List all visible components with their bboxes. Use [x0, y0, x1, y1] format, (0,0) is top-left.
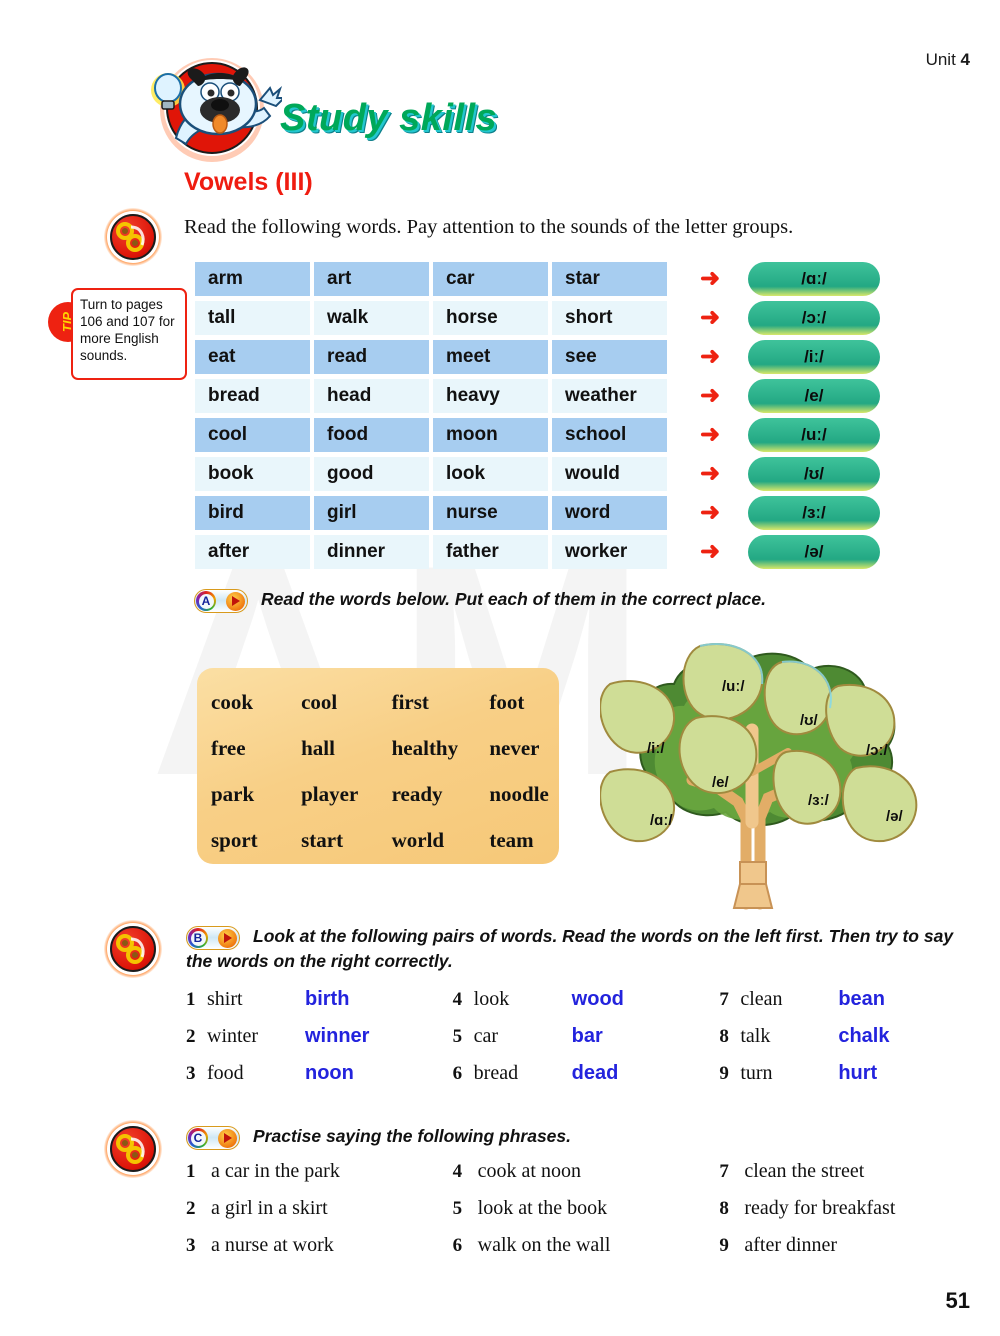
- word-bank-cell[interactable]: start: [291, 817, 382, 863]
- vowel-word-cell: horse: [433, 301, 548, 335]
- pair-number: 5: [453, 1026, 474, 1048]
- vowel-word-cell: art: [314, 262, 429, 296]
- vowel-word-cell: worker: [552, 535, 667, 569]
- vowel-table-row: birdgirlnurseword: [195, 496, 667, 530]
- vowel-table-row: armartcarstar: [195, 262, 667, 296]
- phrase-text: a nurse at work: [211, 1234, 334, 1257]
- play-arrow-icon[interactable]: [218, 929, 237, 948]
- textbook-page: Unit 4: [0, 0, 1000, 1336]
- pair-left-word: shirt: [207, 988, 305, 1011]
- vowel-word-cell: weather: [552, 379, 667, 413]
- phrase-number: 1: [186, 1161, 211, 1183]
- phrase-number: 9: [719, 1235, 744, 1257]
- word-pair-row: 5carbar: [453, 1025, 720, 1062]
- right-arrow-icon: ➜: [700, 301, 720, 340]
- unit-label: Unit 4: [926, 50, 970, 70]
- word-bank-cell[interactable]: hall: [291, 725, 382, 771]
- pair-number: 1: [186, 989, 207, 1011]
- word-bank-cell[interactable]: park: [197, 771, 291, 817]
- vowel-word-cell: father: [433, 535, 548, 569]
- pair-number: 2: [186, 1026, 207, 1048]
- vowel-word-cell: moon: [433, 418, 548, 452]
- pair-left-word: look: [474, 988, 572, 1011]
- vowel-word-cell: girl: [314, 496, 429, 530]
- right-arrow-icon: ➜: [700, 535, 720, 574]
- pair-right-word: bean: [838, 988, 885, 1011]
- vowel-sound-pill: /ɔː/: [748, 301, 880, 335]
- phrase-number: 8: [719, 1198, 744, 1220]
- vowel-table-row: breadheadheavyweather: [195, 379, 667, 413]
- word-bank-row: sportstartworldteam: [197, 817, 559, 863]
- word-pair-row: 3foodnoon: [186, 1062, 453, 1099]
- exercise-c-phrases: 1a car in the park2a girl in a skirt3a n…: [186, 1160, 986, 1271]
- phrase-row: 8ready for breakfast: [719, 1197, 986, 1234]
- tree-leaf-label-schwa: /ə/: [886, 808, 903, 825]
- vowel-word-cell: tall: [195, 301, 310, 335]
- vowel-word-cell: would: [552, 457, 667, 491]
- word-bank-cell[interactable]: player: [291, 771, 382, 817]
- pair-column: 7cleanbean8talkchalk9turnhurt: [719, 988, 986, 1099]
- phrase-number: 6: [453, 1235, 478, 1257]
- word-bank-cell[interactable]: foot: [479, 679, 559, 725]
- exercise-c-badge[interactable]: C: [186, 1126, 240, 1150]
- exercise-b-instruction: Look at the following pairs of words. Re…: [186, 926, 953, 971]
- badge-letter: B: [191, 931, 206, 946]
- pair-number: 4: [453, 989, 474, 1011]
- vowel-word-cell: bird: [195, 496, 310, 530]
- play-arrow-icon[interactable]: [226, 592, 245, 611]
- pair-left-word: turn: [740, 1062, 838, 1085]
- pair-right-word: wood: [572, 988, 624, 1011]
- vowel-word-cell: head: [314, 379, 429, 413]
- vowel-table-row: afterdinnerfatherworker: [195, 535, 667, 569]
- vowel-table-row: tallwalkhorseshort: [195, 301, 667, 335]
- right-arrow-icon: ➜: [700, 340, 720, 379]
- right-arrow-icon: ➜: [700, 379, 720, 418]
- vowel-word-cell: food: [314, 418, 429, 452]
- exercise-a-word-bank: cookcoolfirstfootfreehallhealthyneverpar…: [197, 668, 559, 864]
- vowel-word-cell: heavy: [433, 379, 548, 413]
- phrase-row: 3a nurse at work: [186, 1234, 453, 1271]
- vowel-word-cell: after: [195, 535, 310, 569]
- vowel-word-cell: walk: [314, 301, 429, 335]
- word-bank-cell[interactable]: cool: [291, 679, 382, 725]
- phrase-number: 2: [186, 1198, 211, 1220]
- phrase-text: clean the street: [744, 1160, 864, 1183]
- word-bank-row: freehallhealthynever: [197, 725, 559, 771]
- vowel-word-cell: look: [433, 457, 548, 491]
- pair-number: 3: [186, 1063, 207, 1085]
- word-bank-cell[interactable]: first: [382, 679, 480, 725]
- phrase-row: 6walk on the wall: [453, 1234, 720, 1271]
- vowel-sound-column: /ɑː//ɔː//iː//e//uː//ʊ//ɜː//ə/: [748, 262, 880, 574]
- vowel-word-cell: short: [552, 301, 667, 335]
- vowel-word-cell: dinner: [314, 535, 429, 569]
- vowel-word-cell: eat: [195, 340, 310, 374]
- right-arrow-icon: ➜: [700, 496, 720, 535]
- phrase-column: 7clean the street8ready for breakfast9af…: [719, 1160, 986, 1271]
- right-arrow-icon: ➜: [700, 418, 720, 457]
- phrase-number: 7: [719, 1161, 744, 1183]
- word-bank-cell[interactable]: world: [382, 817, 480, 863]
- phrase-number: 3: [186, 1235, 211, 1257]
- vowel-word-cell: meet: [433, 340, 548, 374]
- word-pair-row: 6breaddead: [453, 1062, 720, 1099]
- headphones-audio-icon-b[interactable]: [104, 920, 162, 978]
- vowel-word-cell: read: [314, 340, 429, 374]
- vowel-word-table: armartcarstartallwalkhorseshorteatreadme…: [195, 262, 667, 574]
- right-arrow-icon: ➜: [700, 262, 720, 301]
- phrase-column: 4cook at noon5look at the book6walk on t…: [453, 1160, 720, 1271]
- exercise-a-badge[interactable]: A: [194, 589, 248, 613]
- word-bank-row: cookcoolfirstfoot: [197, 679, 559, 725]
- word-bank-cell[interactable]: cook: [197, 679, 291, 725]
- phrase-row: 2a girl in a skirt: [186, 1197, 453, 1234]
- pair-left-word: winter: [207, 1025, 305, 1048]
- word-pair-row: 1shirtbirth: [186, 988, 453, 1025]
- exercise-c-header: C Practise saying the following phrases.: [186, 1125, 976, 1150]
- vowel-word-cell: bread: [195, 379, 310, 413]
- vowel-sound-pill: /ɑː/: [748, 262, 880, 296]
- tree-leaf-label-aa: /ɑː/: [650, 812, 673, 829]
- exercise-b-badge[interactable]: B: [186, 926, 240, 950]
- pair-right-word: bar: [572, 1025, 603, 1048]
- phrase-text: walk on the wall: [478, 1234, 611, 1257]
- vowel-sound-pill: /iː/: [748, 340, 880, 374]
- pair-right-word: hurt: [838, 1062, 877, 1085]
- phrase-row: 4cook at noon: [453, 1160, 720, 1197]
- vowel-word-cell: arm: [195, 262, 310, 296]
- vowel-sound-pill: /ə/: [748, 535, 880, 569]
- word-pair-row: 9turnhurt: [719, 1062, 986, 1099]
- pair-number: 6: [453, 1063, 474, 1085]
- badge-letter-ring: A: [196, 591, 216, 611]
- phrase-number: 4: [453, 1161, 478, 1183]
- word-pair-row: 4lookwood: [453, 988, 720, 1025]
- vowel-arrow-column: ➜➜➜➜➜➜➜➜: [700, 262, 720, 574]
- phrase-text: cook at noon: [478, 1160, 581, 1183]
- tip-callout: TIP Turn to pages 106 and 107 for more E…: [48, 288, 188, 380]
- badge-letter-ring: C: [188, 1128, 208, 1148]
- tree-leaf-label-ii: /iː/: [647, 740, 665, 757]
- section-title: Study skills: [280, 97, 497, 140]
- right-arrow-icon: ➜: [700, 457, 720, 496]
- vowel-word-cell: good: [314, 457, 429, 491]
- pair-left-word: car: [474, 1025, 572, 1048]
- page-number: 51: [946, 1288, 970, 1314]
- pair-left-word: clean: [740, 988, 838, 1011]
- intro-instruction: Read the following words. Pay attention …: [184, 216, 964, 239]
- badge-letter: C: [191, 1131, 206, 1146]
- phrase-text: ready for breakfast: [744, 1197, 895, 1220]
- word-bank-row: parkplayerreadynoodle: [197, 771, 559, 817]
- word-bank-table: cookcoolfirstfootfreehallhealthyneverpar…: [197, 679, 559, 863]
- vowel-table-row: bookgoodlookwould: [195, 457, 667, 491]
- word-pair-row: 7cleanbean: [719, 988, 986, 1025]
- phrase-row: 9after dinner: [719, 1234, 986, 1271]
- vowel-word-cell: nurse: [433, 496, 548, 530]
- badge-letter-ring: B: [188, 928, 208, 948]
- exercise-b-header: B Look at the following pairs of words. …: [186, 925, 976, 973]
- vowel-word-cell: school: [552, 418, 667, 452]
- exercise-a-header: A Read the words below. Put each of them…: [194, 588, 894, 613]
- dog-with-lightbulb-mascot-icon: [142, 52, 282, 164]
- exercise-c-instruction: Practise saying the following phrases.: [253, 1126, 571, 1146]
- vowel-word-cell: book: [195, 457, 310, 491]
- vowel-sound-pill: /ʊ/: [748, 457, 880, 491]
- pair-number: 9: [719, 1063, 740, 1085]
- vowel-word-cell: star: [552, 262, 667, 296]
- vowel-sound-pill: /uː/: [748, 418, 880, 452]
- pair-right-word: dead: [572, 1062, 619, 1085]
- word-bank-cell[interactable]: team: [479, 817, 559, 863]
- pair-right-word: birth: [305, 988, 349, 1011]
- play-arrow-icon[interactable]: [218, 1129, 237, 1148]
- tree-leaf-label-u: /ʊ/: [800, 712, 818, 729]
- word-bank-cell[interactable]: sport: [197, 817, 291, 863]
- tree-leaf-label-oo: /ɔː/: [866, 742, 888, 759]
- phrase-text: a car in the park: [211, 1160, 340, 1183]
- vowel-table-row: coolfoodmoonschool: [195, 418, 667, 452]
- vowel-table-row: eatreadmeetsee: [195, 340, 667, 374]
- word-bank-cell[interactable]: noodle: [479, 771, 559, 817]
- word-bank-cell[interactable]: never: [479, 725, 559, 771]
- pair-left-word: food: [207, 1062, 305, 1085]
- vowel-word-cell: word: [552, 496, 667, 530]
- pair-left-word: talk: [740, 1025, 838, 1048]
- phrase-text: after dinner: [744, 1234, 837, 1257]
- exercise-a-instruction: Read the words below. Put each of them i…: [261, 589, 766, 609]
- phrase-text: look at the book: [478, 1197, 607, 1220]
- tree-leaf-label-er: /ɜː/: [808, 792, 829, 809]
- phrase-row: 7clean the street: [719, 1160, 986, 1197]
- pair-left-word: bread: [474, 1062, 572, 1085]
- pair-right-word: chalk: [838, 1025, 889, 1048]
- vowel-word-cell: cool: [195, 418, 310, 452]
- unit-prefix: Unit: [926, 50, 961, 69]
- word-pair-row: 8talkchalk: [719, 1025, 986, 1062]
- word-bank-cell[interactable]: free: [197, 725, 291, 771]
- pair-number: 7: [719, 989, 740, 1011]
- vowel-sound-pill: /e/: [748, 379, 880, 413]
- tree-leaf-label-e: /e/: [712, 774, 729, 791]
- phrase-number: 5: [453, 1198, 478, 1220]
- pair-column: 1shirtbirth2winterwinner3foodnoon: [186, 988, 453, 1099]
- pair-number: 8: [719, 1026, 740, 1048]
- exercise-b-pairs: 1shirtbirth2winterwinner3foodnoon4lookwo…: [186, 988, 986, 1099]
- headphones-audio-icon-c[interactable]: [104, 1120, 162, 1178]
- headphones-audio-icon[interactable]: [104, 208, 162, 266]
- word-bank-cell[interactable]: healthy: [382, 725, 480, 771]
- phrase-row: 1a car in the park: [186, 1160, 453, 1197]
- badge-letter: A: [199, 594, 214, 609]
- pair-right-word: noon: [305, 1062, 354, 1085]
- vowel-tree-illustration: /uː/ /ʊ/ /iː/ /ɔː/ /e/ /ɜː/ /ɑː/ /ə/: [600, 622, 930, 914]
- vowel-word-cell: car: [433, 262, 548, 296]
- pair-column: 4lookwood5carbar6breaddead: [453, 988, 720, 1099]
- tree-leaf-label-uu: /uː/: [722, 678, 745, 695]
- phrase-column: 1a car in the park2a girl in a skirt3a n…: [186, 1160, 453, 1271]
- word-pair-row: 2winterwinner: [186, 1025, 453, 1062]
- word-bank-cell[interactable]: ready: [382, 771, 480, 817]
- pair-right-word: winner: [305, 1025, 369, 1048]
- unit-number: 4: [961, 50, 970, 69]
- vowel-word-cell: see: [552, 340, 667, 374]
- vowel-sound-pill: /ɜː/: [748, 496, 880, 530]
- phrase-row: 5look at the book: [453, 1197, 720, 1234]
- tip-text: Turn to pages 106 and 107 for more Engli…: [71, 288, 187, 380]
- phrase-text: a girl in a skirt: [211, 1197, 328, 1220]
- page-title: Vowels (III): [184, 168, 313, 197]
